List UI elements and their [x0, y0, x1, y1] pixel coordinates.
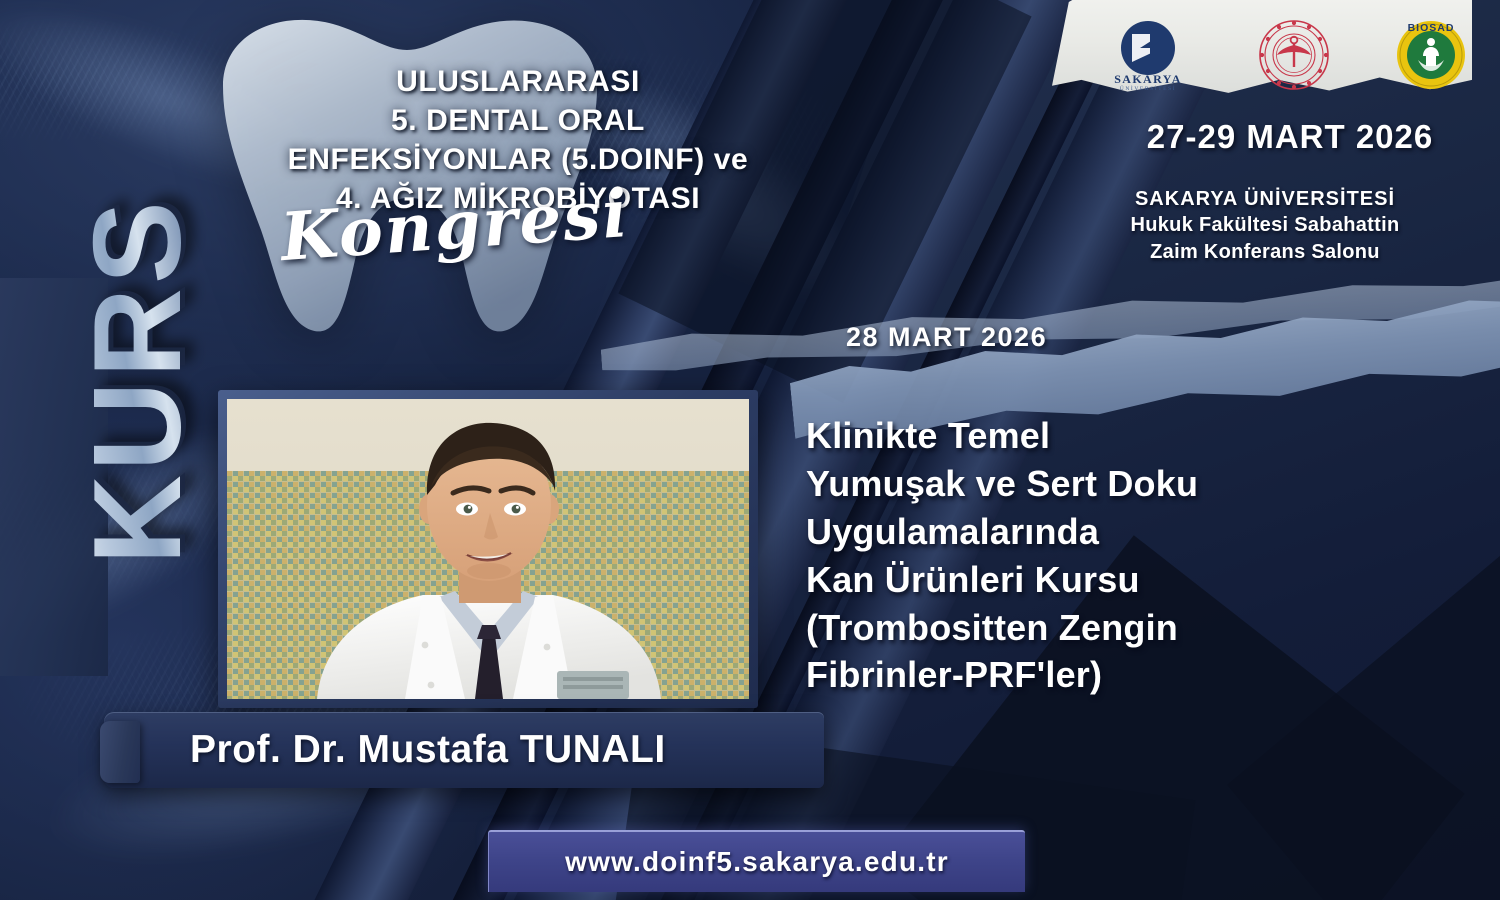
course-title: Klinikte Temel Yumuşak ve Sert Doku Uygu… — [806, 412, 1446, 699]
venue-line-3: Zaim Konferans Salonu — [1045, 239, 1485, 265]
speaker-name: Prof. Dr. Mustafa TUNALI — [190, 728, 666, 772]
venue-block: SAKARYA ÜNİVERSİTESİ Hukuk Fakültesi Sab… — [1045, 186, 1485, 265]
speaker-name-banner: Prof. Dr. Mustafa TUNALI — [104, 712, 824, 788]
title-line-3: ENFEKSİYONLAR (5.DOINF) ve — [168, 140, 868, 179]
website-url[interactable]: www.doinf5.sakarya.edu.tr — [565, 846, 949, 878]
speaker-photo-frame — [218, 390, 758, 708]
title-line-2: 5. DENTAL ORAL — [168, 101, 868, 140]
saglik-bakanligi-logo — [1257, 18, 1331, 97]
course-title-line-5: (Trombositten Zengin — [806, 604, 1446, 652]
course-title-line-2: Yumuşak ve Sert Doku — [806, 460, 1446, 508]
sakarya-universitesi-logo: SAKARYA ÜNİVERSİTESİ — [1100, 18, 1196, 97]
svg-text:BIOSAD: BIOSAD — [1408, 22, 1455, 34]
congress-dates: 27-29 MART 2026 — [1100, 118, 1480, 156]
course-date: 28 MART 2026 — [846, 322, 1047, 353]
course-title-line-6: Fibrinler-PRF'ler) — [806, 651, 1446, 699]
logo-row: SAKARYA ÜNİVERSİTESİ — [1100, 20, 1470, 94]
banner-fold — [100, 721, 140, 783]
kurs-label: KURS — [67, 197, 209, 564]
website-plaque[interactable]: www.doinf5.sakarya.edu.tr — [488, 830, 1025, 892]
venue-line-2: Hukuk Fakültesi Sabahattin — [1045, 212, 1485, 238]
course-title-line-4: Kan Ürünleri Kursu — [806, 556, 1446, 604]
conference-poster: ULUSLARARASI 5. DENTAL ORAL ENFEKSİYONLA… — [0, 0, 1500, 900]
course-title-line-1: Klinikte Temel — [806, 412, 1446, 460]
venue-line-1: SAKARYA ÜNİVERSİTESİ — [1045, 186, 1485, 212]
biosad-logo: BIOSAD — [1392, 18, 1470, 97]
svg-text:SAKARYA: SAKARYA — [1114, 72, 1182, 86]
speaker-portrait — [227, 399, 749, 699]
course-title-line-3: Uygulamalarında — [806, 508, 1446, 556]
title-line-1: ULUSLARARASI — [168, 62, 868, 101]
kurs-label-wrapper: KURS — [53, 181, 223, 581]
svg-text:ÜNİVERSİTESİ: ÜNİVERSİTESİ — [1120, 85, 1176, 92]
